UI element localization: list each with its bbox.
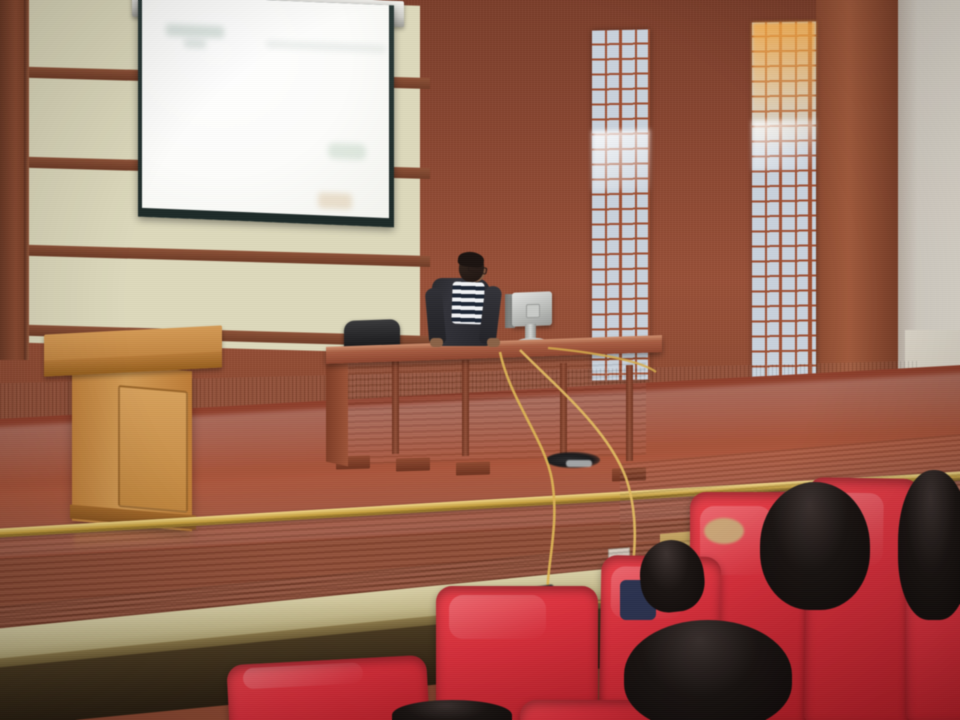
- projection-screen: [142, 0, 389, 218]
- audience-member-partial: [704, 518, 744, 544]
- screen-faint-content: [184, 39, 206, 49]
- audience-member-head: [624, 620, 792, 720]
- presenter-hand-left: [430, 338, 443, 347]
- desk-panel-divider: [560, 363, 567, 459]
- left-wall-pilaster: [0, 0, 26, 360]
- screen-faint-content: [166, 24, 224, 38]
- monitor-back-badge: [526, 304, 540, 318]
- auditorium-photo: [0, 0, 960, 720]
- screen-faint-content: [266, 40, 386, 53]
- presenter-desk-body: [336, 351, 646, 466]
- lattice-panel-left: [592, 29, 650, 380]
- lectern-front-panel: [118, 385, 188, 513]
- desk-foot: [396, 457, 430, 471]
- desk-panel-divider: [626, 365, 633, 461]
- screen-faint-content: [328, 143, 366, 161]
- desk-panel-divider: [462, 360, 469, 456]
- audience-member-head: [760, 482, 870, 610]
- desk-left-return: [326, 350, 348, 467]
- lattice-weave-pattern: [592, 29, 650, 380]
- seat-highlight: [243, 662, 364, 689]
- wall-pillar-right: [816, 0, 898, 420]
- cream-panel-divider: [0, 244, 430, 267]
- screen-faint-content: [318, 192, 352, 209]
- desk-foot: [456, 461, 490, 475]
- audience-member-head: [898, 470, 960, 620]
- presenter-hand-right: [487, 338, 500, 347]
- floor-cable-bundle: [566, 460, 592, 467]
- presenter-striped-shirt: [451, 281, 484, 324]
- left-wall-pilaster-edge: [24, 0, 29, 360]
- lattice-panel-right: [752, 21, 816, 388]
- desk-panel-divider: [392, 358, 399, 454]
- lattice-weave-pattern: [752, 21, 816, 388]
- seat-highlight: [449, 595, 546, 639]
